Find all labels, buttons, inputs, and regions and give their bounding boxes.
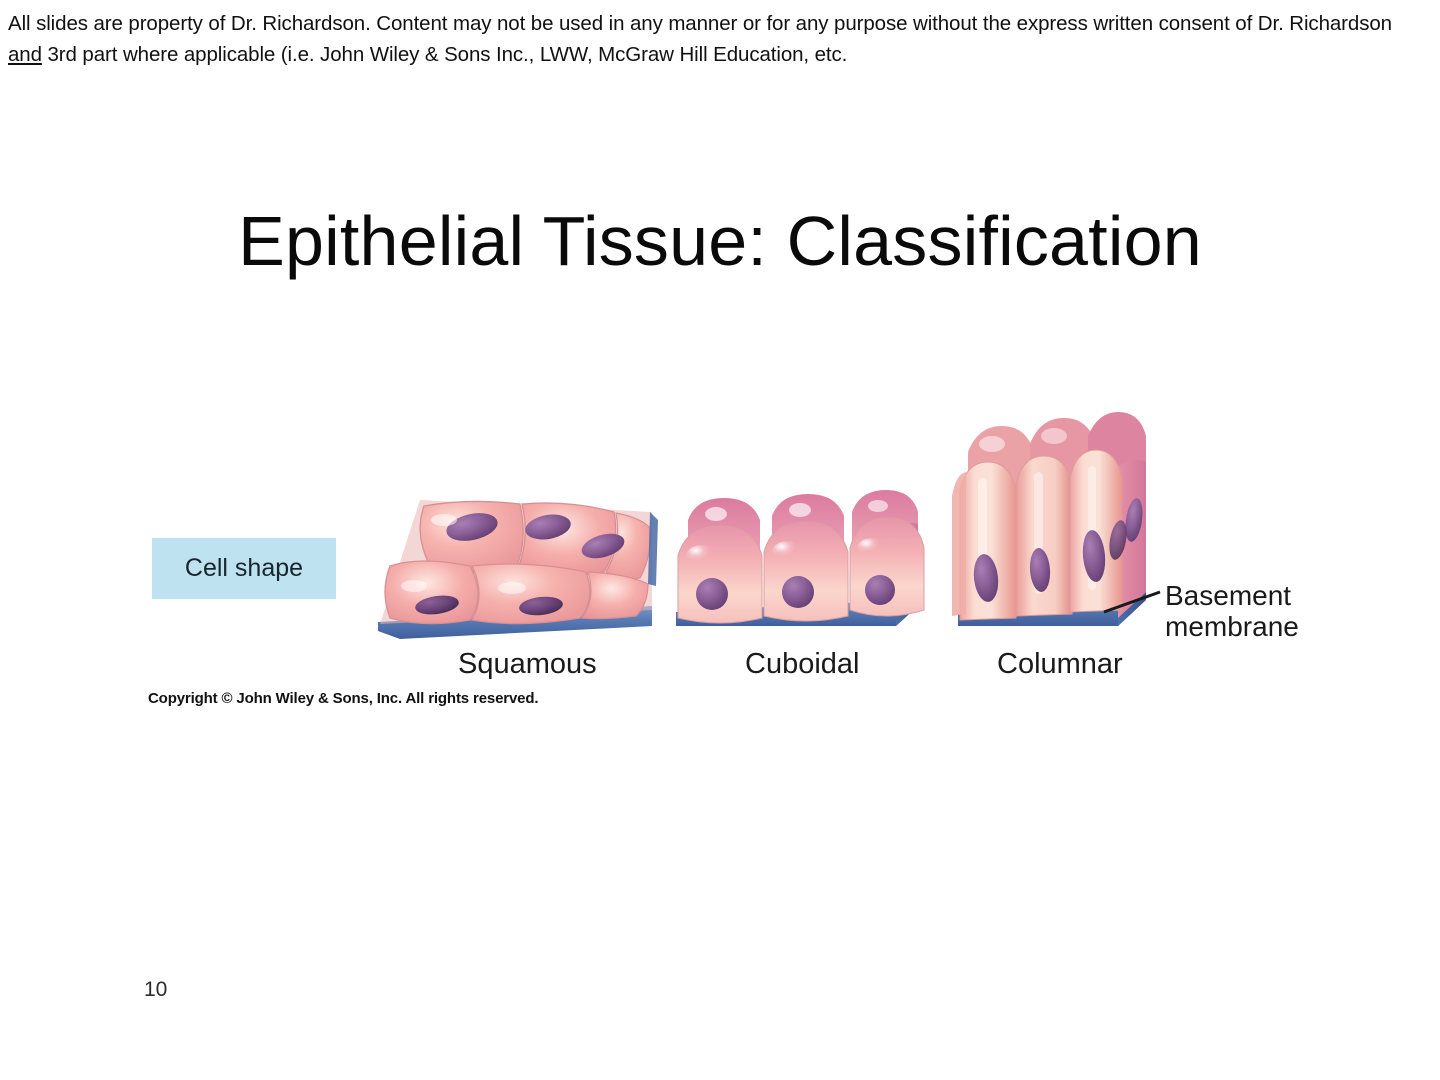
figure-label-squamous: Squamous xyxy=(458,648,597,681)
disclaimer-text-part2: 3rd part where applicable (i.e. John Wil… xyxy=(42,43,847,66)
epithelial-classification-figure: Cell shape Squamous Cuboidal Columnar xyxy=(0,400,1440,720)
page-number: 10 xyxy=(144,978,167,1002)
basement-membrane-label-line2: membrane xyxy=(1165,611,1299,642)
disclaimer-text-part1: All slides are property of Dr. Richardso… xyxy=(8,12,1392,35)
disclaimer-underlined-word: and xyxy=(8,43,42,66)
figure-label-cuboidal: Cuboidal xyxy=(745,648,859,681)
slide-disclaimer: All slides are property of Dr. Richardso… xyxy=(8,8,1408,70)
page-title: Epithelial Tissue: Classification xyxy=(0,198,1440,284)
basement-membrane-label-line1: Basement xyxy=(1165,580,1299,611)
cell-shape-label: Cell shape xyxy=(152,538,336,599)
figure-copyright: Copyright © John Wiley & Sons, Inc. All … xyxy=(148,690,538,707)
cell-shape-tag: Cell shape xyxy=(152,538,336,599)
figure-label-columnar: Columnar xyxy=(997,648,1123,681)
basement-membrane-label: Basement membrane xyxy=(1165,580,1299,642)
